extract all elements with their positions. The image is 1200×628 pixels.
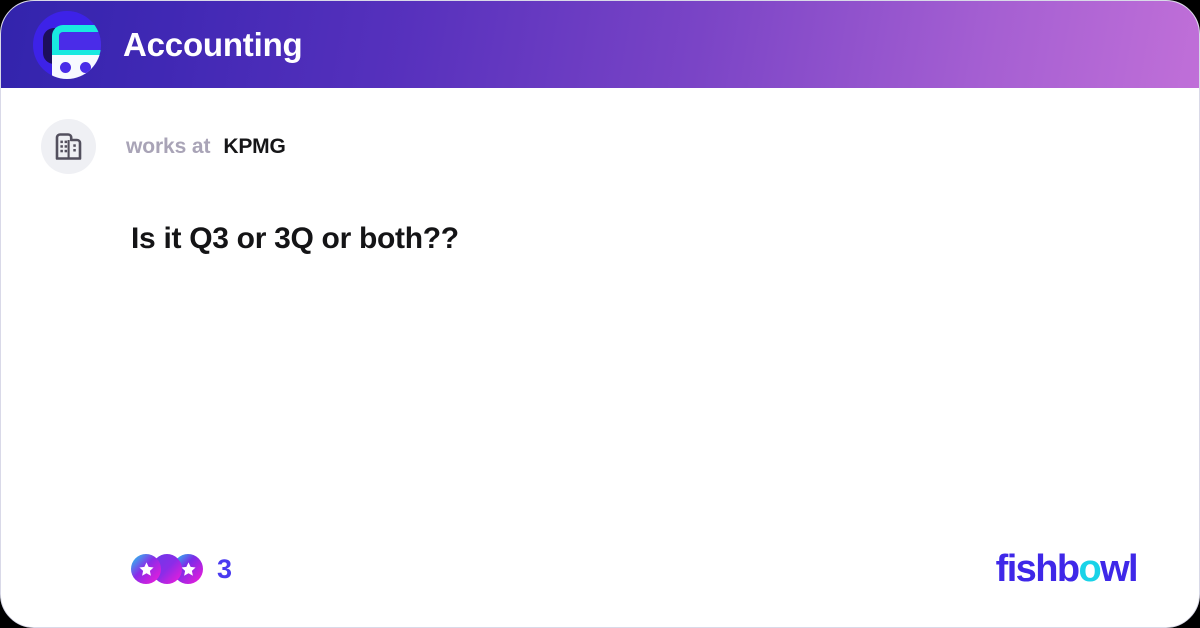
bubble-right-icon <box>80 62 91 73</box>
bowl-rim <box>52 25 101 57</box>
post-body-text: Is it Q3 or 3Q or both?? <box>131 219 1111 260</box>
fishbowl-wordmark: fishbowl <box>996 550 1137 588</box>
office-building-icon <box>54 131 84 162</box>
works-at-label: works at <box>126 135 210 159</box>
wordmark-part-1: fishb <box>996 548 1079 590</box>
bubble-left-icon <box>60 62 71 73</box>
star-reaction-icon[interactable] <box>131 554 161 584</box>
author-meta: works at KPMG <box>126 135 286 159</box>
wordmark-accent-o: o <box>1078 548 1100 590</box>
author-row: works at KPMG <box>1 88 1199 174</box>
card-header: Accounting <box>1 1 1199 88</box>
card-body: works at KPMG Is it Q3 or 3Q or both?? <box>1 88 1199 628</box>
fishbowl-bowl-icon <box>33 11 101 79</box>
bowl-water <box>52 55 101 79</box>
page-title: Accounting <box>123 28 302 61</box>
avatar <box>41 119 96 174</box>
post-card: Accounting <box>0 0 1200 628</box>
company-name: KPMG <box>223 135 285 159</box>
reactions-group[interactable]: 3 <box>131 554 232 585</box>
reaction-badges[interactable] <box>131 554 203 584</box>
wordmark-part-2: wl <box>1100 548 1137 590</box>
reaction-count: 3 <box>217 554 232 585</box>
card-footer: 3 fishbowl <box>1 539 1199 599</box>
